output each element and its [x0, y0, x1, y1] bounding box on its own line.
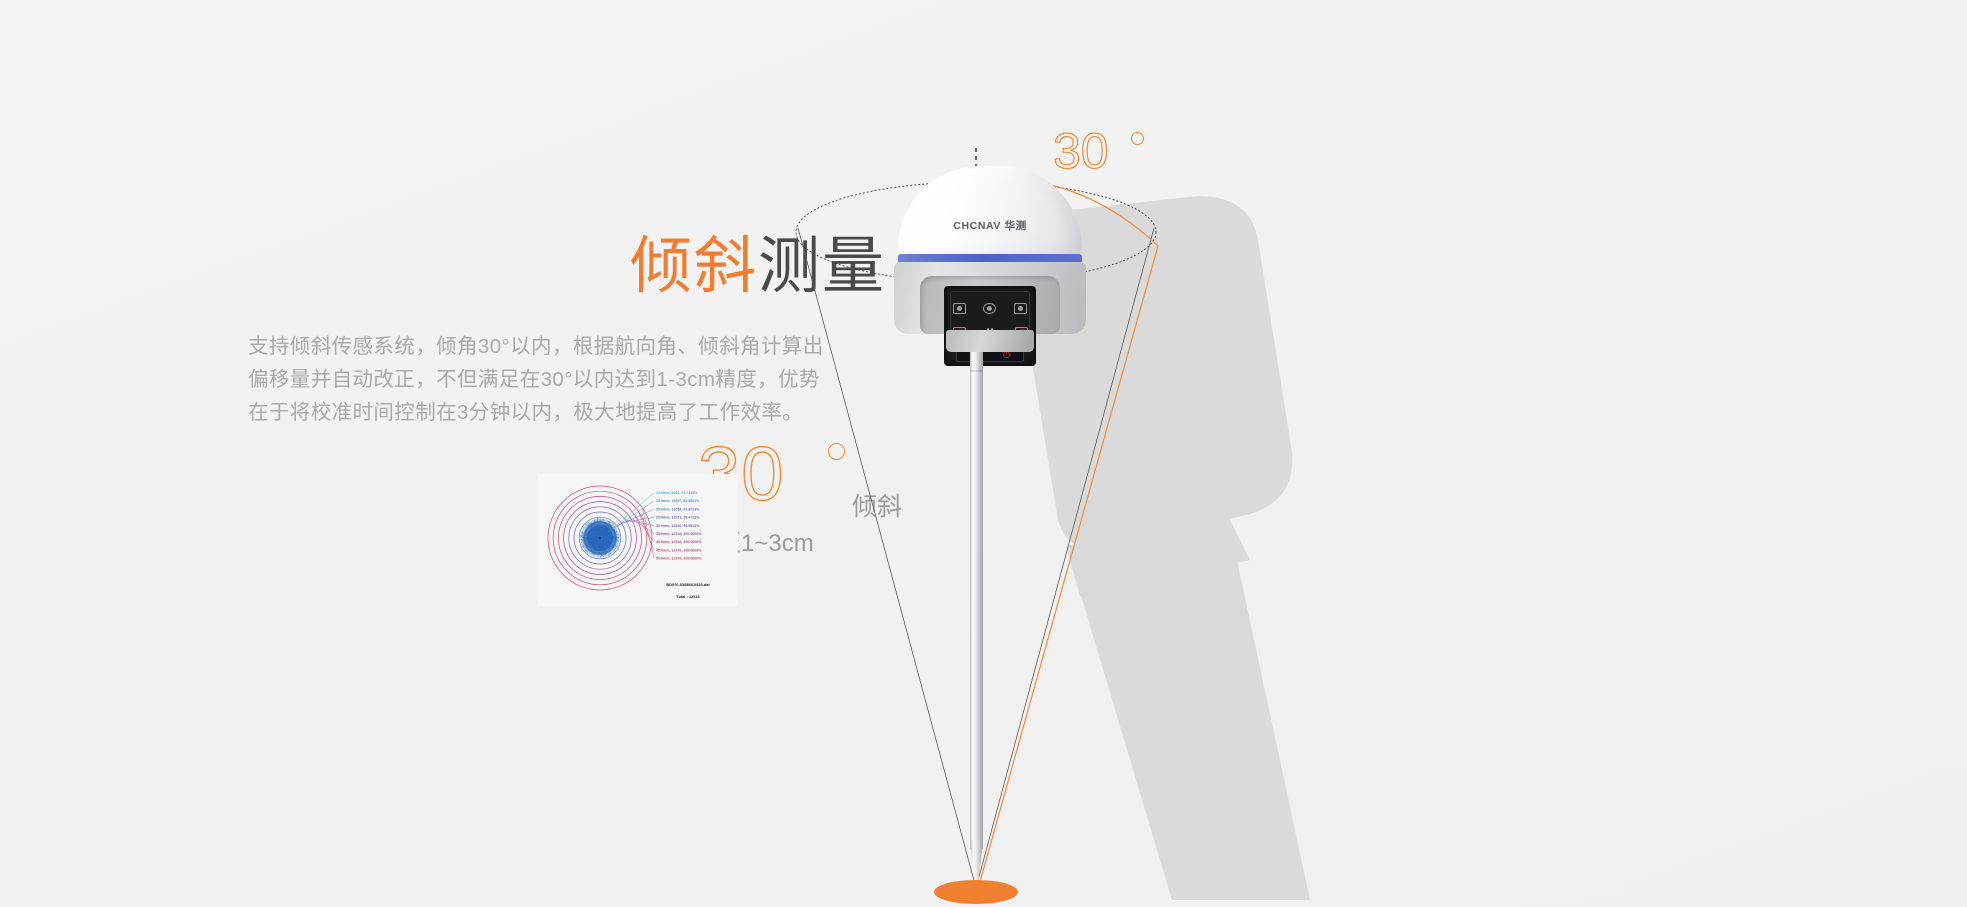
tilt-angle-annotation: 30 — [1053, 126, 1173, 186]
tilt-angle-degree-icon — [1131, 132, 1144, 145]
receiver-body: A B ▣ ⏻ — [894, 262, 1086, 334]
page-title-accent: 倾斜 — [630, 232, 758, 301]
chart-total-label: Total : 12316 — [676, 594, 700, 599]
satellite-icon — [953, 303, 966, 314]
globe-network-icon — [983, 303, 996, 314]
chart-legend-item: 25.0mm, 12251, 99.4722% — [656, 516, 700, 520]
chart-legend-item: 35.0mm, 12316, 100.0000% — [656, 532, 702, 536]
precision-scatter-chart: 10.0mm, 9082, 73.7419%15.0mm, 11497, 93.… — [538, 474, 738, 606]
panel-status-row-top — [944, 303, 1036, 314]
receiver-base-mount — [946, 330, 1034, 352]
chart-legend-item: 10.0mm, 9082, 73.7419% — [656, 491, 698, 495]
chart-legend-item: 50.0mm, 12316, 100.0000% — [656, 557, 702, 561]
chart-legend-item: 30.0mm, 12310, 99.9513% — [656, 524, 700, 528]
gnss-receiver: CHCNAV 华测 — [892, 166, 1088, 350]
camera-icon — [1014, 303, 1027, 314]
tilt-cone-diagram — [780, 0, 1967, 907]
pole-seam — [970, 370, 983, 372]
tilt-angle-value: 30 — [1053, 126, 1109, 176]
tilt-survey-page: 倾斜测量 支持倾斜传感系统，倾角30°以内，根据航向角、倾斜角计算出 偏移量并自… — [0, 0, 1967, 907]
chart-cluster — [580, 518, 620, 557]
chart-legend-item: 40.0mm, 12316, 100.0000% — [656, 540, 702, 544]
receiver-brand-logo: CHCNAV 华测 — [892, 218, 1088, 233]
power-icon: ⏻ — [1003, 351, 1010, 360]
chart-file-label: BD970-030858-0523.dat — [666, 582, 710, 587]
tilt-illustration: CHCNAV 华测 — [780, 0, 1967, 907]
chart-legend-item: 45.0mm, 12316, 100.0000% — [656, 548, 702, 552]
survey-pole — [970, 352, 983, 849]
ground-point-marker — [934, 880, 1018, 904]
chart-leader-line — [642, 508, 654, 559]
chart-leader-line — [617, 509, 654, 526]
chart-legend-item: 20.0mm, 12054, 97.8723% — [656, 507, 700, 511]
chart-legend: 10.0mm, 9082, 73.7419%15.0mm, 11497, 93.… — [656, 491, 702, 561]
receiver-control-panel[interactable]: A B ▣ ⏻ — [944, 286, 1036, 366]
chart-legend-item: 15.0mm, 11497, 93.3591% — [656, 499, 700, 503]
